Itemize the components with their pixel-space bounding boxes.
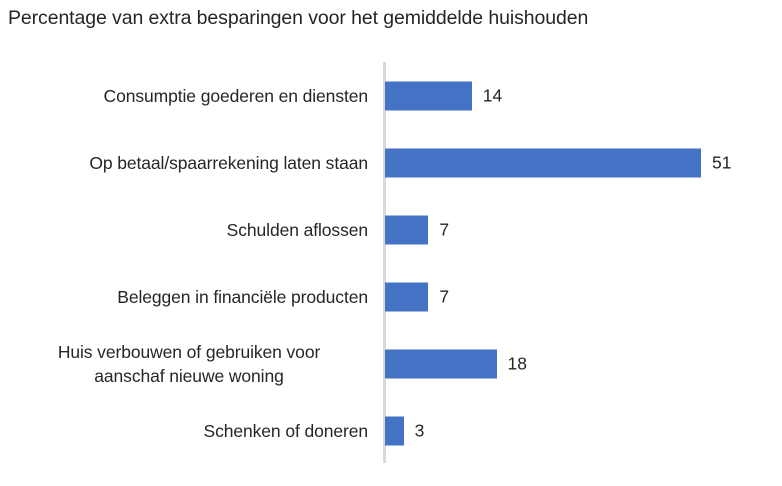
bar-row: Op betaal/spaarrekening laten staan 51: [0, 129, 782, 196]
bar-value-label: 3: [415, 416, 425, 445]
bar-row: Schenken of doneren 3: [0, 397, 782, 464]
bar-fill: [385, 215, 428, 244]
bar-fill: [385, 416, 404, 445]
bar-fill: [385, 349, 497, 378]
bar-value-label: 14: [483, 81, 502, 110]
category-label: Beleggen in financiële producten: [16, 285, 368, 309]
bar-track: 18: [385, 349, 527, 378]
category-label: Op betaal/spaarrekening laten staan: [16, 151, 368, 175]
bar-value-label: 51: [712, 148, 731, 177]
bar-fill: [385, 282, 428, 311]
bar-value-label: 7: [439, 282, 449, 311]
category-label: Schulden aflossen: [16, 218, 368, 242]
category-label: Huis verbouwen of gebruiken voor aanscha…: [16, 340, 368, 388]
plot-area: Consumptie goederen en diensten 14 Op be…: [0, 62, 782, 464]
category-label: Consumptie goederen en diensten: [16, 84, 368, 108]
category-label-line: aanschaf nieuwe woning: [16, 364, 362, 388]
bar-fill: [385, 148, 701, 177]
bar-row: Consumptie goederen en diensten 14: [0, 62, 782, 129]
category-label: Schenken of doneren: [16, 419, 368, 443]
bar-row: Schulden aflossen 7: [0, 196, 782, 263]
bar-track: 51: [385, 148, 731, 177]
bar-track: 7: [385, 215, 449, 244]
bar-row: Beleggen in financiële producten 7: [0, 263, 782, 330]
bar-track: 14: [385, 81, 502, 110]
bar-track: 7: [385, 282, 449, 311]
bar-row: Huis verbouwen of gebruiken voor aanscha…: [0, 330, 782, 397]
bar-value-label: 18: [508, 349, 527, 378]
category-label-line: Huis verbouwen of gebruiken voor: [16, 340, 362, 364]
chart-title: Percentage van extra besparingen voor he…: [8, 5, 774, 31]
bar-fill: [385, 81, 472, 110]
bar-value-label: 7: [439, 215, 449, 244]
bar-track: 3: [385, 416, 424, 445]
bar-chart: Percentage van extra besparingen voor he…: [0, 0, 782, 486]
